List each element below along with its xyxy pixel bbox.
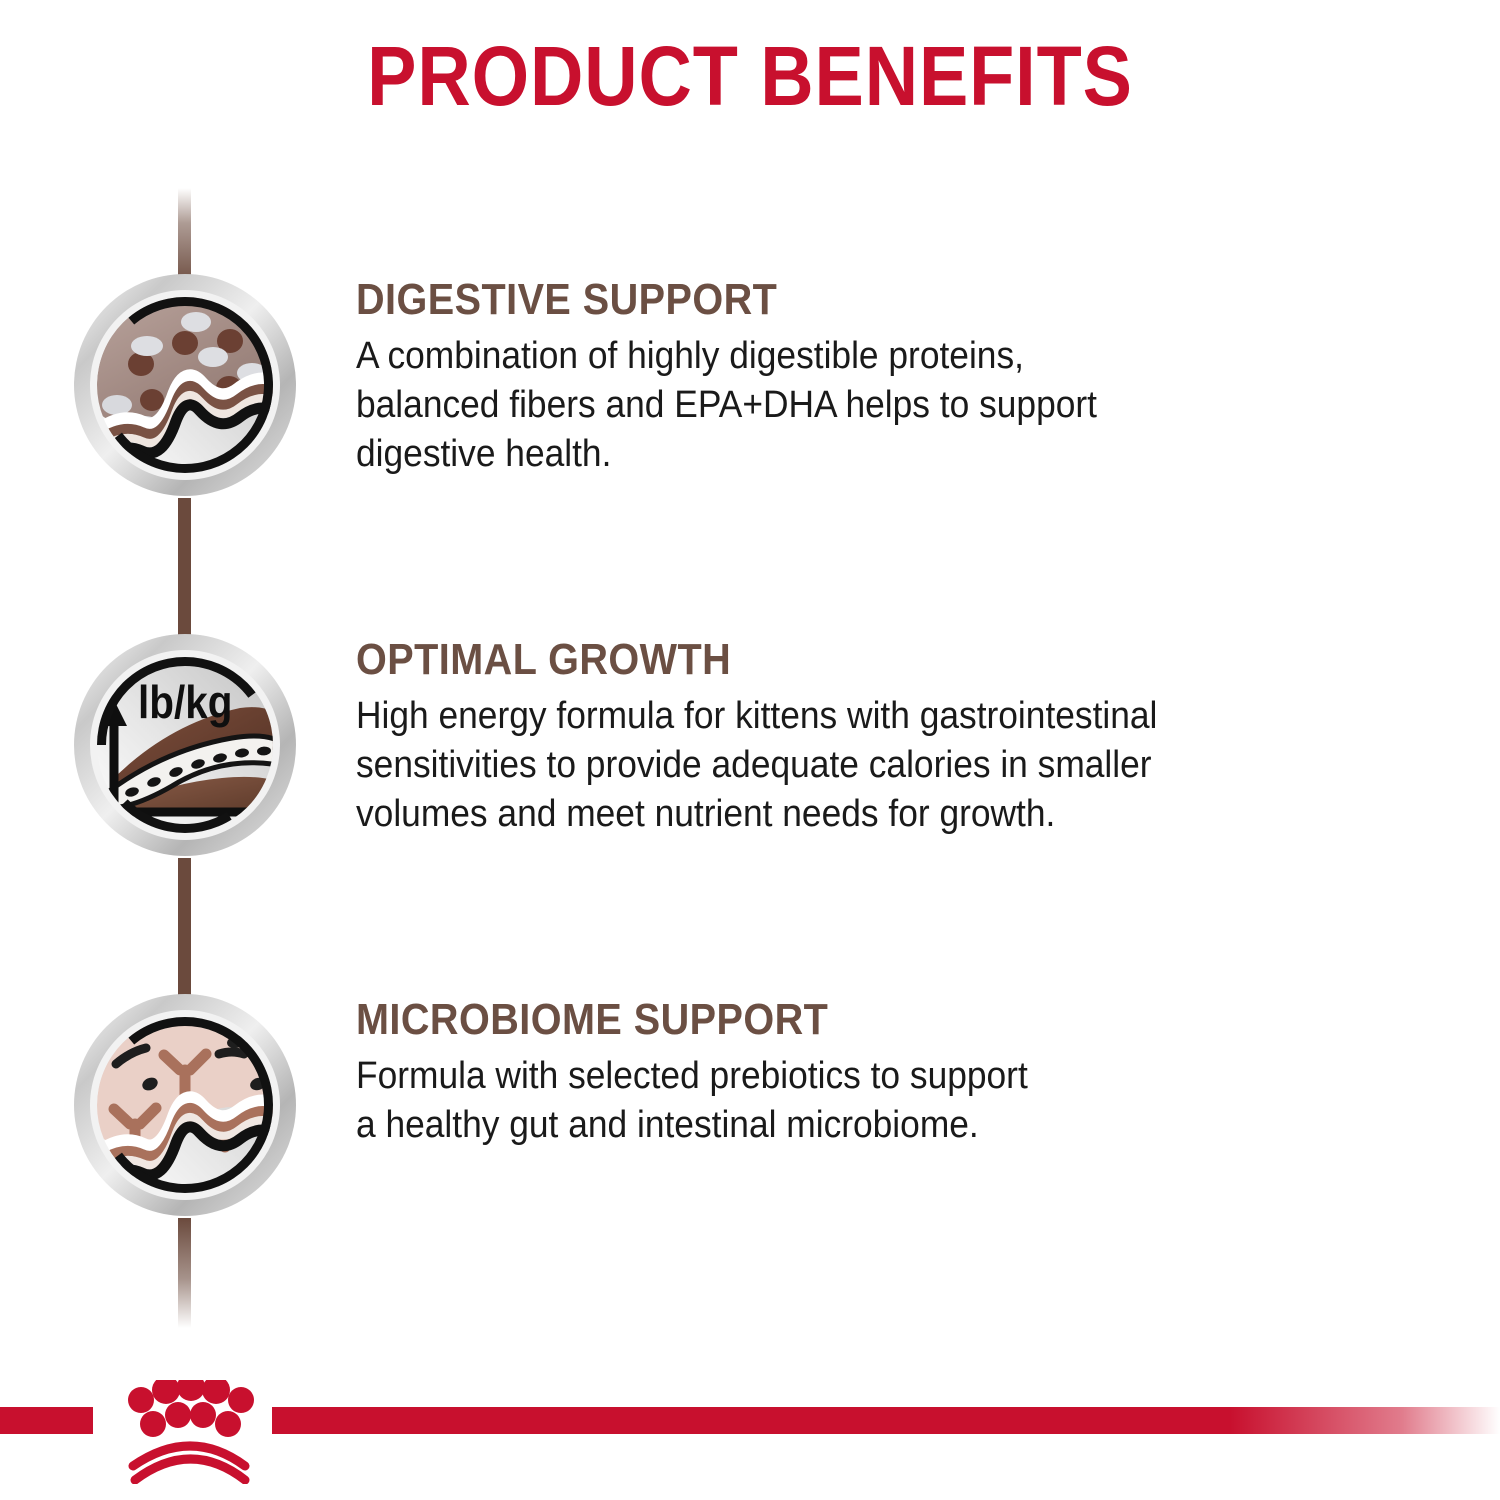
benefit-body: Formula with selected prebiotics to supp… — [356, 1052, 1379, 1151]
benefit-item-digestive-support: DIGESTIVE SUPPORT A combination of highl… — [0, 272, 1500, 512]
benefit-text-block: OPTIMAL GROWTH High energy formula for k… — [356, 636, 1456, 840]
footer — [0, 1380, 1500, 1500]
page-title: PRODUCT BENEFITS — [90, 34, 1410, 118]
benefit-body: A combination of highly digestible prote… — [356, 332, 1379, 480]
connector-rail-bottom — [178, 1218, 191, 1328]
benefit-heading: DIGESTIVE SUPPORT — [356, 276, 1346, 324]
benefit-body: High energy formula for kittens with gas… — [356, 692, 1379, 840]
benefit-item-microbiome-support: MICROBIOME SUPPORT Formula with selected… — [0, 992, 1500, 1232]
royal-canin-crown-logo — [103, 1380, 273, 1484]
connector-rail-segment-1 — [178, 498, 191, 650]
benefit-heading: MICROBIOME SUPPORT — [356, 996, 1346, 1044]
digestive-gut-icon — [72, 272, 298, 498]
benefit-item-optimal-growth: lb/kg OPTIMAL GROWTH High energy formula… — [0, 632, 1500, 872]
benefit-text-block: DIGESTIVE SUPPORT A combination of highl… — [356, 276, 1456, 480]
footer-rule-right — [272, 1407, 1500, 1434]
benefit-heading: OPTIMAL GROWTH — [356, 636, 1346, 684]
microbiome-icon — [72, 992, 298, 1218]
growth-icon-unit-label: lb/kg — [138, 678, 232, 729]
benefit-text-block: MICROBIOME SUPPORT Formula with selected… — [356, 996, 1456, 1150]
footer-rule-left — [0, 1407, 93, 1434]
connector-rail-segment-2 — [178, 858, 191, 1010]
growth-chart-icon: lb/kg — [72, 632, 298, 858]
